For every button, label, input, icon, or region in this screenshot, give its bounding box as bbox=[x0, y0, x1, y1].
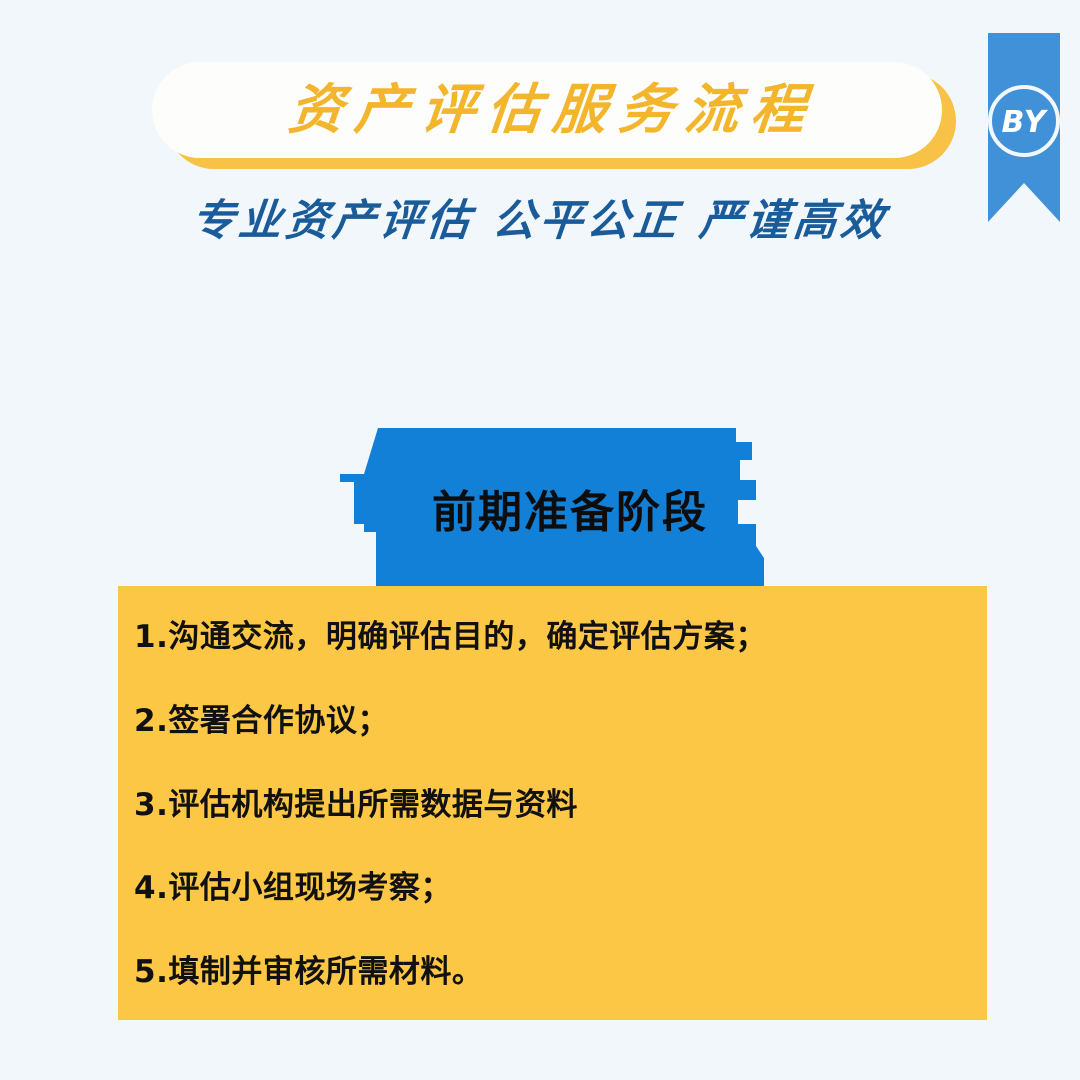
page-subtitle: 专业资产评估 公平公正 严谨高效 bbox=[0, 186, 1080, 248]
header: 资产评估服务流程 专业资产评估 公平公正 严谨高效 BY bbox=[0, 0, 1080, 270]
title-capsule: 资产评估服务流程 bbox=[152, 62, 942, 158]
stage-banner-label-wrap: 前期准备阶段 bbox=[320, 428, 790, 588]
page-title: 资产评估服务流程 bbox=[274, 83, 820, 137]
list-item: 3.评估机构提出所需数据与资料 bbox=[134, 786, 947, 825]
steps-list: 1.沟通交流，明确评估目的，确定评估方案； 2.签署合作协议； 3.评估机构提出… bbox=[134, 618, 947, 992]
list-item: 1.沟通交流，明确评估目的，确定评估方案； bbox=[134, 618, 947, 657]
steps-panel: 1.沟通交流，明确评估目的，确定评估方案； 2.签署合作协议； 3.评估机构提出… bbox=[118, 586, 987, 1020]
list-item: 5.填制并审核所需材料。 bbox=[134, 953, 947, 992]
list-item: 2.签署合作协议； bbox=[134, 702, 947, 741]
poster-canvas: 资产评估服务流程 专业资产评估 公平公正 严谨高效 BY 前期准备阶段 1.沟通… bbox=[0, 0, 1080, 1080]
ribbon-icon: BY bbox=[988, 33, 1060, 222]
stage-banner-label: 前期准备阶段 bbox=[432, 476, 708, 540]
ribbon-letters: BY bbox=[1002, 105, 1049, 140]
list-item: 4.评估小组现场考察； bbox=[134, 869, 947, 908]
award-ribbon-badge: BY bbox=[988, 33, 1060, 222]
